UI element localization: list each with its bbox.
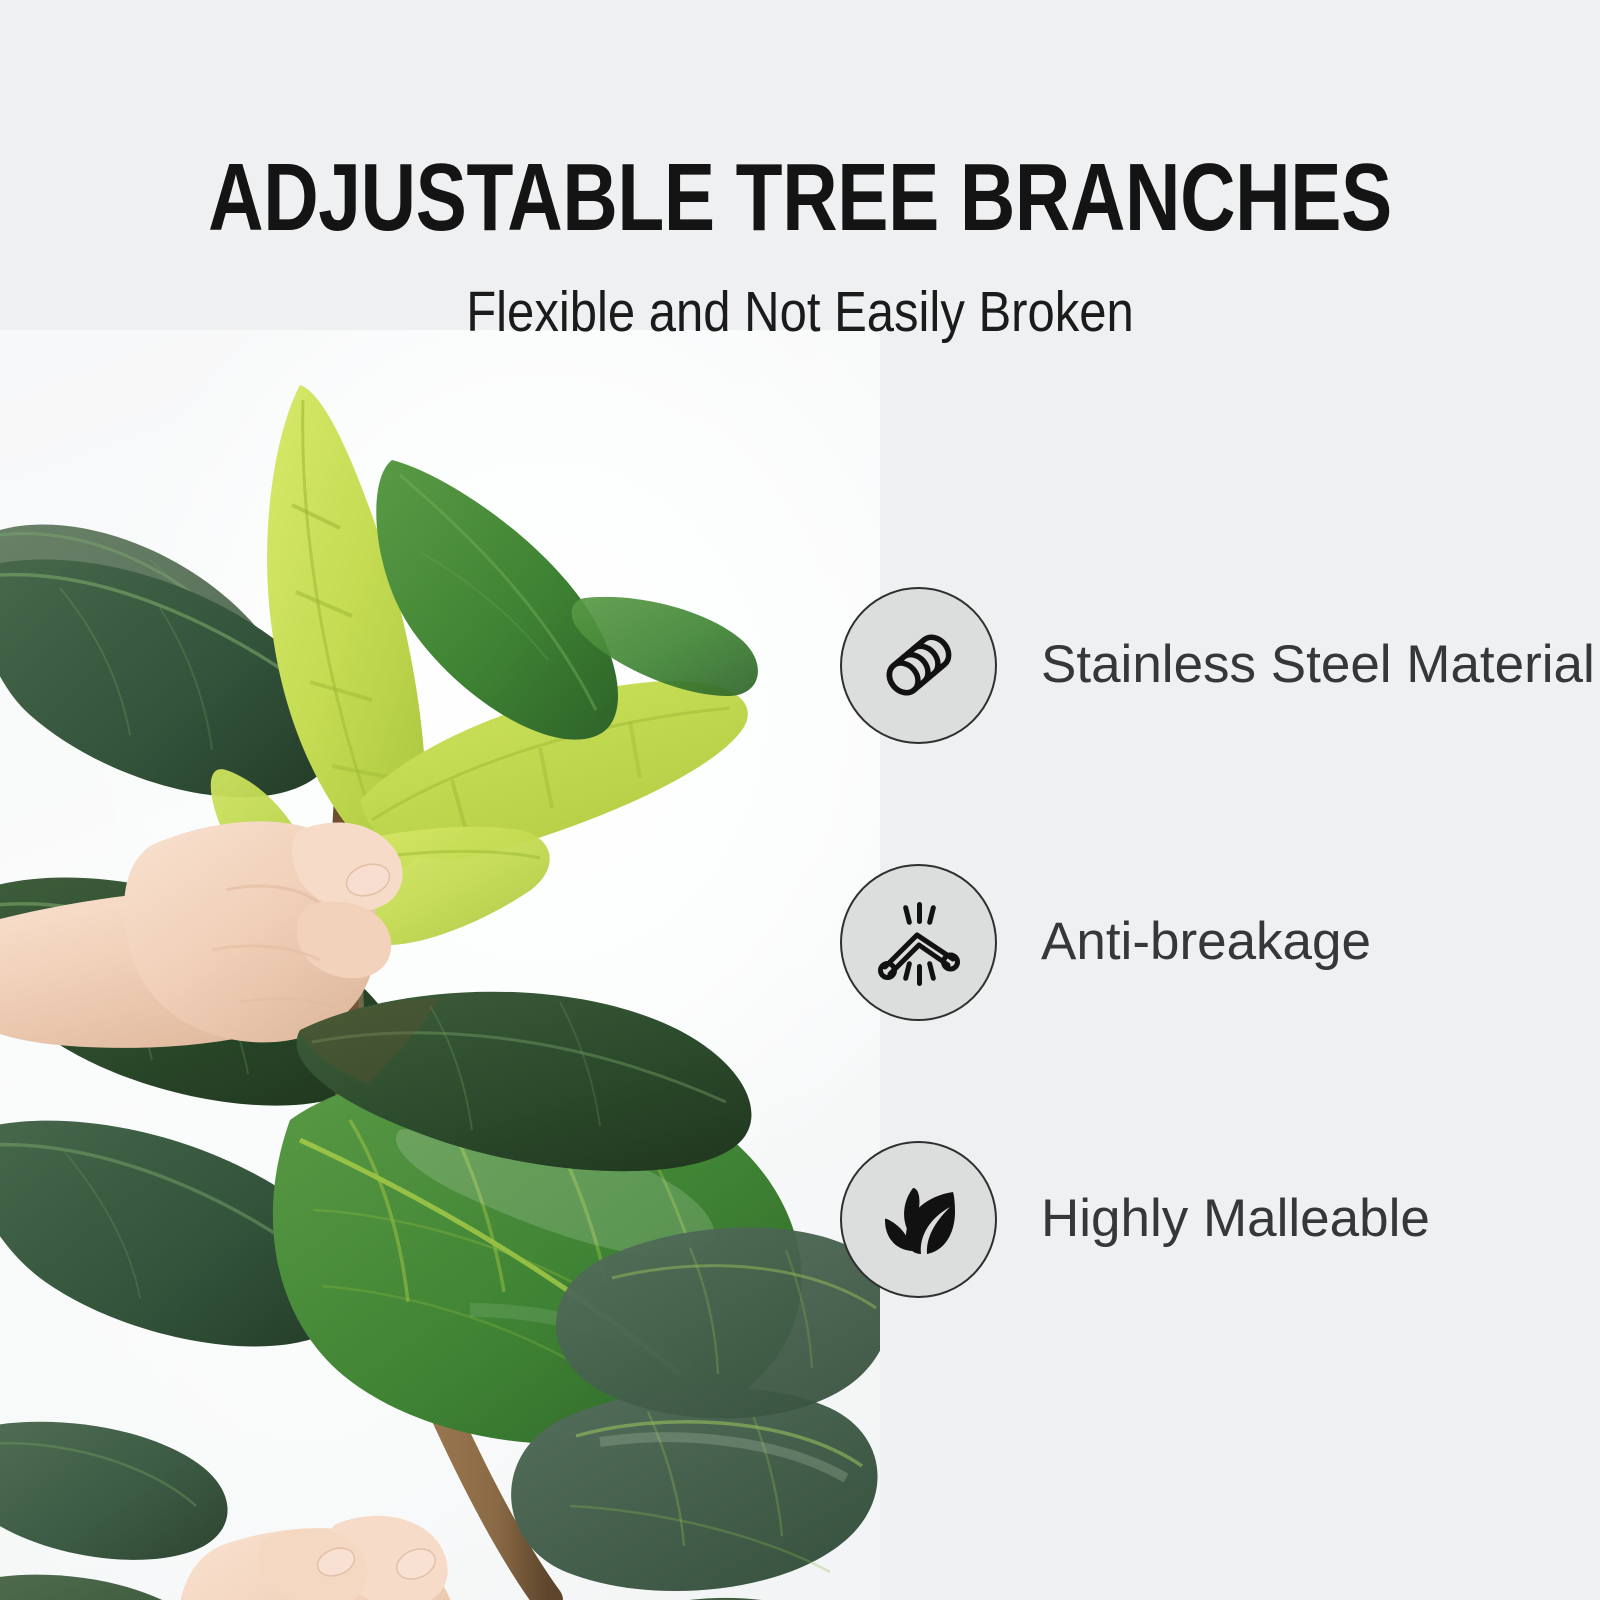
feature-item-stainless-steel: Stainless Steel Material (840, 585, 1580, 745)
feature-list: Stainless Steel Material (840, 585, 1580, 1299)
feature-item-anti-breakage: Anti-breakage (840, 862, 1580, 1022)
plant-illustration (0, 330, 880, 1600)
feature-label: Anti-breakage (1041, 914, 1371, 970)
leaves-icon (876, 1176, 962, 1262)
page-subtitle: Flexible and Not Easily Broken (112, 284, 1488, 341)
leaf-right-folded (511, 1387, 877, 1591)
feature-label: Highly Malleable (1041, 1191, 1430, 1247)
feature-icon-circle (840, 1141, 997, 1298)
feature-item-highly-malleable: Highly Malleable (840, 1139, 1580, 1299)
feature-label: Stainless Steel Material (1041, 637, 1595, 693)
steel-rod-icon (875, 621, 963, 709)
feature-icon-circle (840, 587, 997, 744)
product-photo (0, 330, 880, 1600)
infographic-root: ADJUSTABLE TREE BRANCHES Flexible and No… (0, 0, 1600, 1600)
header: ADJUSTABLE TREE BRANCHES Flexible and No… (0, 150, 1600, 341)
page-title: ADJUSTABLE TREE BRANCHES (160, 150, 1440, 246)
bending-rod-impact-icon (872, 895, 966, 989)
feature-icon-circle (840, 864, 997, 1021)
